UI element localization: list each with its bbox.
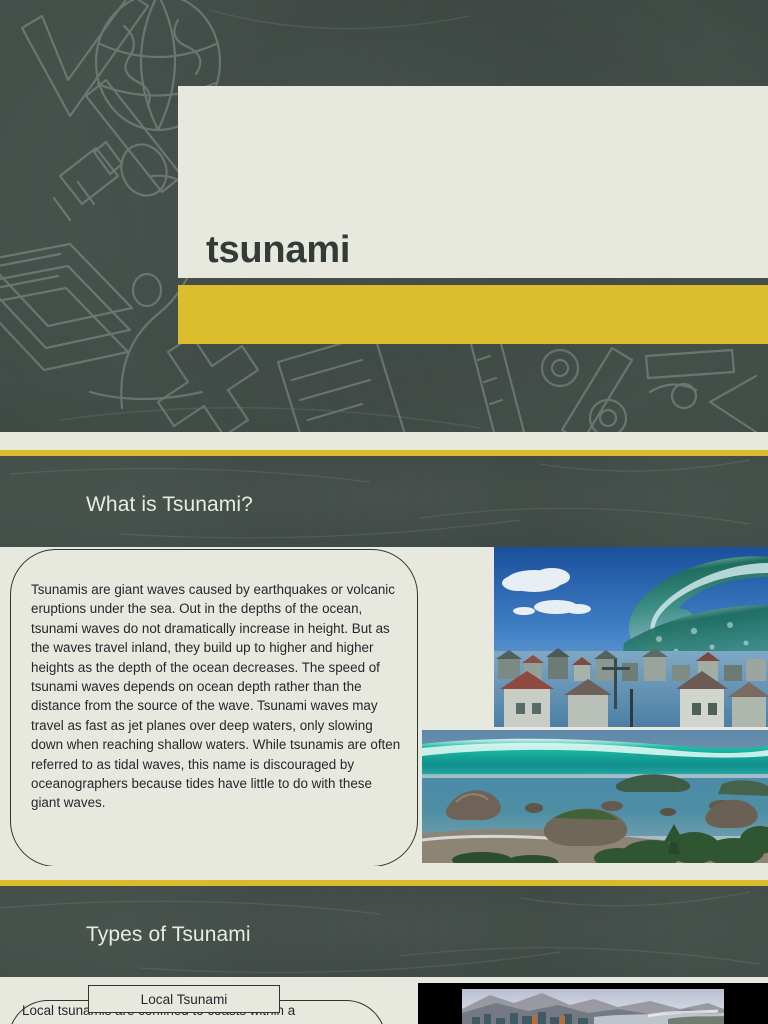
plus-icon — [158, 336, 258, 432]
slide-gap-1 — [0, 432, 768, 450]
books-icon — [0, 244, 132, 370]
ruler-icon — [470, 332, 524, 432]
slide2-heading: What is Tsunami? — [86, 493, 253, 517]
slide-gap-2 — [0, 866, 768, 880]
notebook-icon — [278, 334, 408, 432]
division-icon — [646, 350, 734, 408]
tsunami-type-label-text: Local Tsunami — [141, 992, 228, 1007]
less-than-icon — [710, 376, 756, 432]
coastal-shoreline-wave-photo — [422, 730, 768, 863]
slide-title: tsunami — [0, 0, 768, 432]
city-mountains-photo — [418, 983, 768, 1024]
percent-icon — [542, 348, 632, 432]
slide3-heading: Types of Tsunami — [86, 923, 251, 947]
title-accent-bar — [178, 285, 768, 344]
page-title: tsunami — [206, 229, 350, 272]
tsunami-type-label-box[interactable]: Local Tsunami — [88, 985, 280, 1013]
definition-callout-bubble: Tsunamis are giant waves caused by earth… — [10, 549, 418, 867]
tsunami-wave-over-town-photo — [494, 547, 768, 727]
definition-body-text: Tsunamis are giant waves caused by earth… — [31, 580, 403, 813]
title-card: tsunami — [178, 86, 768, 278]
presentation-document: tsunami What is Tsunami? Tsunamis are gi… — [0, 0, 768, 1024]
